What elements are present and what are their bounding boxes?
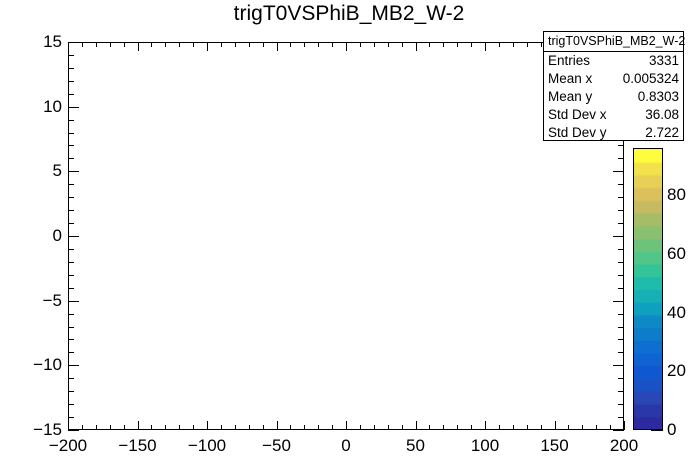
y-axis-tick-label: −15 [14, 421, 62, 438]
x-axis-tick-label: −50 [247, 437, 307, 454]
stats-row: Std Dev x36.08 [544, 106, 683, 124]
colorbar-tick-label: 40 [667, 304, 697, 321]
stats-box-header: trigT0VSPhiB_MB2_W-2 [544, 32, 683, 52]
y-axis-tick-label: 10 [14, 98, 62, 115]
y-axis-tick-label: −5 [14, 292, 62, 309]
y-axis-tick-label: 15 [14, 33, 62, 50]
colorbar-tick-label: 80 [667, 186, 697, 203]
y-axis-tick-label: −10 [14, 356, 62, 373]
colorbar-tick-label: 0 [667, 421, 697, 438]
stats-row-key: Mean y [548, 88, 592, 106]
x-axis-tick-label: 200 [594, 437, 654, 454]
root-canvas: trigT0VSPhiB_MB2_W-2 −15−10−5051015−200−… [0, 0, 698, 476]
stats-row-value: 3331 [649, 52, 679, 70]
x-axis-tick-label: −200 [38, 437, 98, 454]
stats-box[interactable]: trigT0VSPhiB_MB2_W-2 Entries3331Mean x0.… [543, 31, 684, 141]
stats-row-value: 2.722 [645, 124, 679, 142]
color-palette-axis [633, 148, 663, 430]
colorbar-tick-label: 60 [667, 245, 697, 262]
stats-row-key: Std Dev x [548, 106, 607, 124]
y-axis-tick-label: 5 [14, 162, 62, 179]
stats-row-value: 0.005324 [623, 70, 679, 88]
x-axis-tick-label: −150 [108, 437, 168, 454]
x-axis-tick-label: 100 [455, 437, 515, 454]
stats-row-key: Entries [548, 52, 590, 70]
stats-row: Mean y0.8303 [544, 88, 683, 106]
y-axis-tick-label: 0 [14, 227, 62, 244]
plot-frame [68, 42, 624, 430]
stats-row-value: 36.08 [645, 106, 679, 124]
colorbar-tick-label: 20 [667, 362, 697, 379]
x-axis-tick-label: −100 [177, 437, 237, 454]
stats-row: Std Dev y2.722 [544, 124, 683, 142]
stats-row-key: Mean x [548, 70, 592, 88]
stats-box-rows: Entries3331Mean x0.005324Mean y0.8303Std… [544, 52, 683, 142]
page-title: trigT0VSPhiB_MB2_W-2 [0, 2, 698, 26]
stats-row: Mean x0.005324 [544, 70, 683, 88]
x-axis-tick-label: 50 [386, 437, 446, 454]
stats-row-key: Std Dev y [548, 124, 607, 142]
stats-row-value: 0.8303 [638, 88, 679, 106]
stats-row: Entries3331 [544, 52, 683, 70]
x-axis-tick-label: 150 [525, 437, 585, 454]
x-axis-tick-label: 0 [316, 437, 376, 454]
